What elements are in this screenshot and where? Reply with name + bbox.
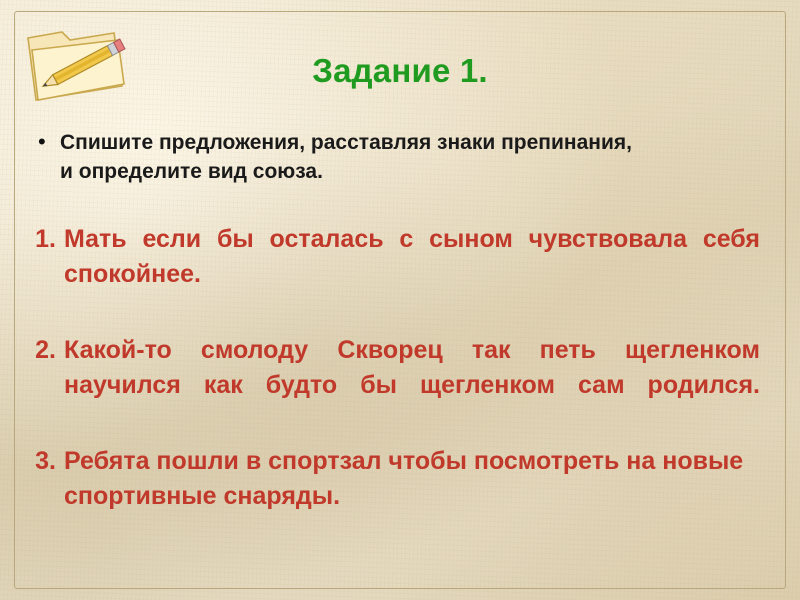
task-text-3: Ребята пошли в спортзал чтобы посмотреть… [64,444,760,514]
instruction-row: • Спишите предложения, расставляя знаки … [38,128,638,186]
task-text-2: Какой-то смолоду Скворец так петь щеглен… [64,333,760,438]
task-number-3: 3. [30,444,64,479]
task-item-3: 3. Ребята пошли в спортзал чтобы посмотр… [30,444,760,514]
instruction-text: Спишите предложения, расставляя знаки пр… [60,128,638,186]
task-item-1: 1. Мать если бы осталась с сыном чувство… [30,222,760,327]
slide-title: Задание 1. [0,52,800,90]
slide-canvas: Задание 1. • Спишите предложения, расста… [0,0,800,600]
task-text-1: Мать если бы осталась с сыном чувствовал… [64,222,760,327]
bullet-icon: • [38,128,60,156]
task-number-1: 1. [30,222,64,257]
task-item-2: 2. Какой-то смолоду Скворец так петь щег… [30,333,760,438]
task-list: 1. Мать если бы осталась с сыном чувство… [30,222,760,520]
instruction-block: • Спишите предложения, расставляя знаки … [38,128,638,186]
task-number-2: 2. [30,333,64,368]
